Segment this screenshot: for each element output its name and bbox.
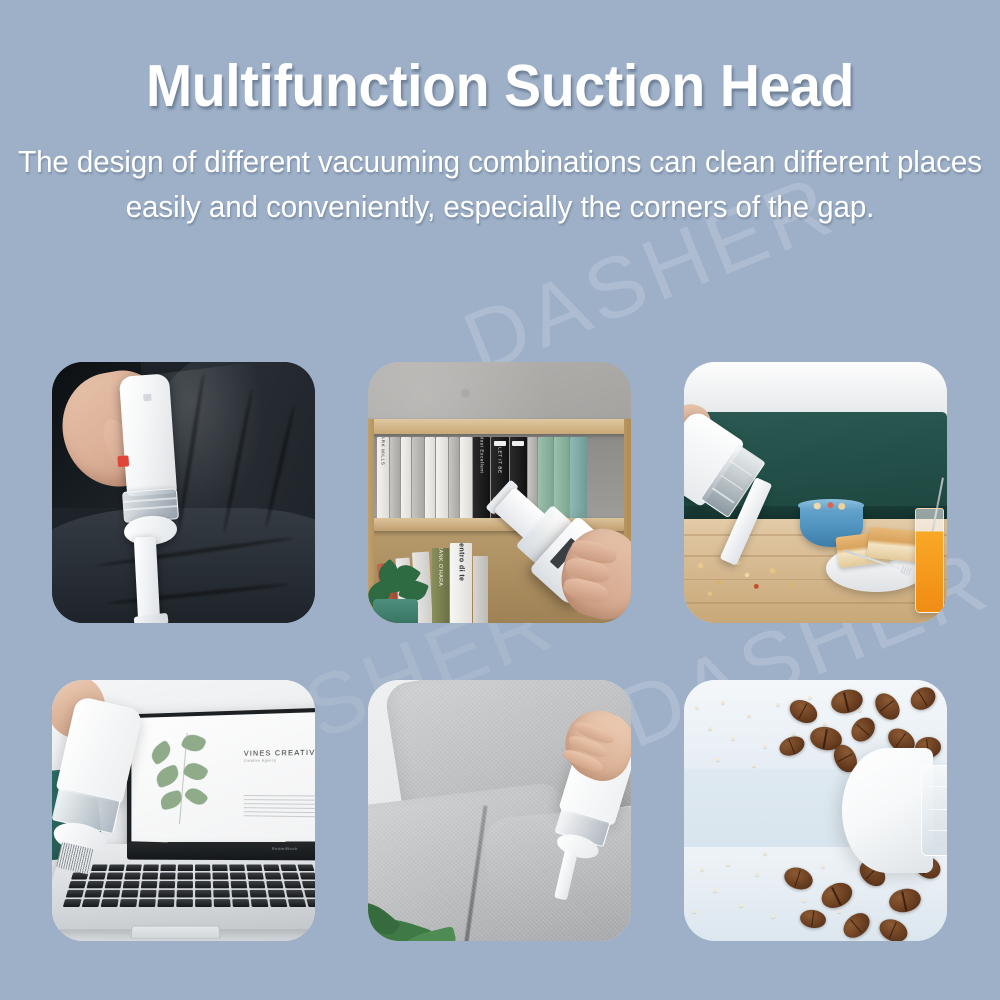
keyboard-key: [157, 899, 174, 907]
dust-cup-ring: [712, 488, 735, 504]
keyboard-key: [247, 872, 264, 879]
keyboard-key: [213, 881, 230, 889]
dust-cup-ring: [124, 497, 177, 503]
keyboard-key: [248, 881, 265, 889]
page-title: Multifunction Suction Head: [30, 56, 970, 118]
photo-gallery: MARK MILLS The Most Excellent LET IT BE: [52, 362, 948, 941]
coffee-bean: [871, 688, 905, 724]
keyboard-key: [269, 899, 288, 907]
keyboard-key: [125, 864, 142, 871]
keyboard-key: [138, 899, 156, 907]
wall: [684, 362, 947, 417]
plant-leaf: [149, 739, 175, 765]
book-band-label: [512, 441, 524, 447]
book-spine: [425, 437, 435, 518]
coffee-bean: [887, 886, 923, 916]
laptop-scene: VINES CREATIVE Creative Agency RedmiBook: [52, 680, 315, 941]
keyboard-key: [160, 864, 176, 871]
book-spine: [401, 437, 411, 518]
keyboard-key: [229, 864, 245, 871]
coffee-bean: [838, 908, 874, 941]
laptop-trackpad: [130, 925, 221, 938]
coffee-bean: [829, 687, 865, 717]
keyboard-key: [249, 890, 267, 898]
dust-cup-ring: [929, 809, 947, 811]
dust-cup: [921, 765, 947, 855]
sofa-scene: [368, 680, 631, 941]
header: Multifunction Suction Head The design of…: [0, 0, 1000, 230]
keyboard-key: [285, 890, 303, 898]
dust-cup-ring: [929, 830, 947, 832]
keyboard-key: [108, 864, 125, 871]
keyboard-key: [213, 890, 230, 898]
keyboard-key: [104, 881, 122, 889]
keyboard-key: [106, 872, 123, 879]
keyboard-row: [74, 864, 315, 871]
keyboard-key: [86, 881, 104, 889]
cereal: [806, 502, 856, 510]
bookshelf-scene: MARK MILLS The Most Excellent LET IT BE: [368, 362, 631, 623]
keyboard-key: [267, 890, 285, 898]
coffee-bean: [799, 908, 828, 930]
page-subtitle: The design of different vacuuming combin…: [15, 140, 985, 230]
laptop-brand-label: RedmiBook: [272, 846, 298, 851]
screen-subtitle: Creative Agency: [244, 759, 277, 763]
gallery-tile-laptop: VINES CREATIVE Creative Agency RedmiBook: [52, 680, 315, 941]
book-spine: [436, 437, 448, 518]
keyboard-key: [284, 881, 302, 889]
vacuum-suction-head: [842, 748, 947, 873]
keyboard-key: [230, 872, 247, 879]
dust-cup-ring: [124, 505, 177, 511]
laptop-hinge: RedmiBook: [127, 841, 315, 860]
plant-leaf: [154, 764, 182, 789]
keyboard-key: [159, 881, 176, 889]
keyboard-key: [195, 872, 211, 879]
keyboard-key: [119, 899, 137, 907]
gallery-tile-car-seat: [52, 362, 315, 623]
seat-cushion: [52, 508, 315, 623]
keyboard-key: [288, 899, 307, 907]
keyboard-key: [177, 872, 193, 879]
coffee-bean: [876, 915, 911, 941]
keyboard-row: [71, 872, 315, 879]
keyboard-key: [299, 872, 315, 879]
keyboard-key: [195, 864, 211, 871]
keyboard-key: [231, 890, 248, 898]
gallery-tile-breakfast: [684, 362, 947, 623]
laptop-screen: VINES CREATIVE Creative Agency: [127, 708, 315, 862]
keyboard-key: [103, 890, 121, 898]
power-button: [117, 456, 129, 468]
book-spine: MARK MILLS: [377, 437, 389, 518]
plant-leaf: [184, 785, 209, 810]
keyboard-key: [141, 881, 158, 889]
coffee-bean: [781, 864, 815, 893]
keyboard-key: [297, 864, 315, 871]
potted-plant: [368, 552, 435, 623]
toast-slice: [867, 527, 922, 563]
keyboard-key: [212, 872, 228, 879]
gallery-tile-coffee-beans: [684, 680, 947, 941]
vacuum-housing: [119, 373, 177, 496]
keyboard-key: [158, 890, 175, 898]
gallery-tile-sofa: [368, 680, 631, 941]
coffee-bean: [846, 713, 879, 747]
keyboard-key: [63, 899, 82, 907]
keyboard-row: [66, 890, 315, 898]
book-band-label: [494, 441, 506, 447]
keyboard-key: [195, 890, 212, 898]
keyboard-key: [176, 899, 193, 907]
keyboard-row: [63, 899, 315, 907]
keyboard-key: [176, 890, 193, 898]
book-spine: [449, 437, 459, 518]
car-seat-scene: [52, 362, 315, 623]
keyboard-key: [121, 890, 139, 898]
keyboard-key: [230, 881, 247, 889]
keyboard-key: [263, 864, 280, 871]
screen-paragraph: [244, 796, 315, 820]
dust-cup-ring: [929, 786, 947, 788]
eucalyptus-image: [143, 723, 228, 834]
keyboard-key: [264, 872, 281, 879]
keyboard-key: [177, 864, 193, 871]
keyboard-key: [123, 881, 140, 889]
keyboard-key: [68, 881, 86, 889]
keyboard-key: [282, 872, 300, 879]
vacuum-body: [119, 373, 177, 496]
keyboard-row: [68, 881, 315, 889]
dust-cup-ring: [730, 460, 753, 476]
dust-cup-ring: [721, 475, 744, 491]
shelf-top-board: [368, 419, 631, 434]
keyboard-key: [124, 872, 141, 879]
keyboard-key: [306, 899, 315, 907]
gallery-tile-bookshelf: MARK MILLS The Most Excellent LET IT BE: [368, 362, 631, 623]
keyboard-key: [280, 864, 297, 871]
screen-title: VINES CREATIVE: [244, 748, 315, 758]
breakfast-scene: [684, 362, 947, 623]
keyboard-key: [301, 881, 315, 889]
keyboard-key: [177, 881, 193, 889]
keyboard-key: [159, 872, 175, 879]
book-spine: [390, 437, 400, 518]
keyboard-key: [100, 899, 119, 907]
vacuum-logo: [143, 394, 151, 402]
keyboard-key: [84, 890, 102, 898]
nozzle-tip: [134, 613, 169, 623]
food-crumbs: [689, 550, 805, 602]
coffee-beans-scene: [684, 680, 947, 941]
keyboard-key: [143, 864, 159, 871]
coffee-bean: [786, 695, 821, 727]
keyboard-key: [142, 872, 159, 879]
screen-display: VINES CREATIVE Creative Agency: [132, 712, 315, 847]
book-spine: [412, 437, 424, 518]
keyboard-key: [266, 881, 284, 889]
vacuum-housing: [842, 748, 933, 873]
orange-juice-glass: [915, 508, 944, 612]
coffee-bean: [776, 733, 807, 760]
coffee-bean: [817, 878, 856, 913]
keyboard-key: [246, 864, 263, 871]
keyboard-key: [82, 899, 101, 907]
keyboard-key: [213, 899, 230, 907]
keyboard-key: [195, 881, 211, 889]
keyboard-key: [232, 899, 250, 907]
coffee-bean: [907, 682, 940, 714]
keyboard-key: [66, 890, 85, 898]
product-feature-page: DASHER DASHER DASHER Multifunction Sucti…: [0, 0, 1000, 1000]
crevice-nozzle: [554, 850, 577, 900]
plant-leaf: [182, 759, 209, 785]
keyboard-key: [139, 890, 156, 898]
book-spine: [460, 437, 472, 518]
keyboard-key: [250, 899, 268, 907]
wood-grain: [684, 602, 947, 604]
keyboard-key: [212, 864, 228, 871]
keyboard-key: [195, 899, 212, 907]
plant-pot: [373, 599, 418, 623]
keyboard-key: [304, 890, 315, 898]
